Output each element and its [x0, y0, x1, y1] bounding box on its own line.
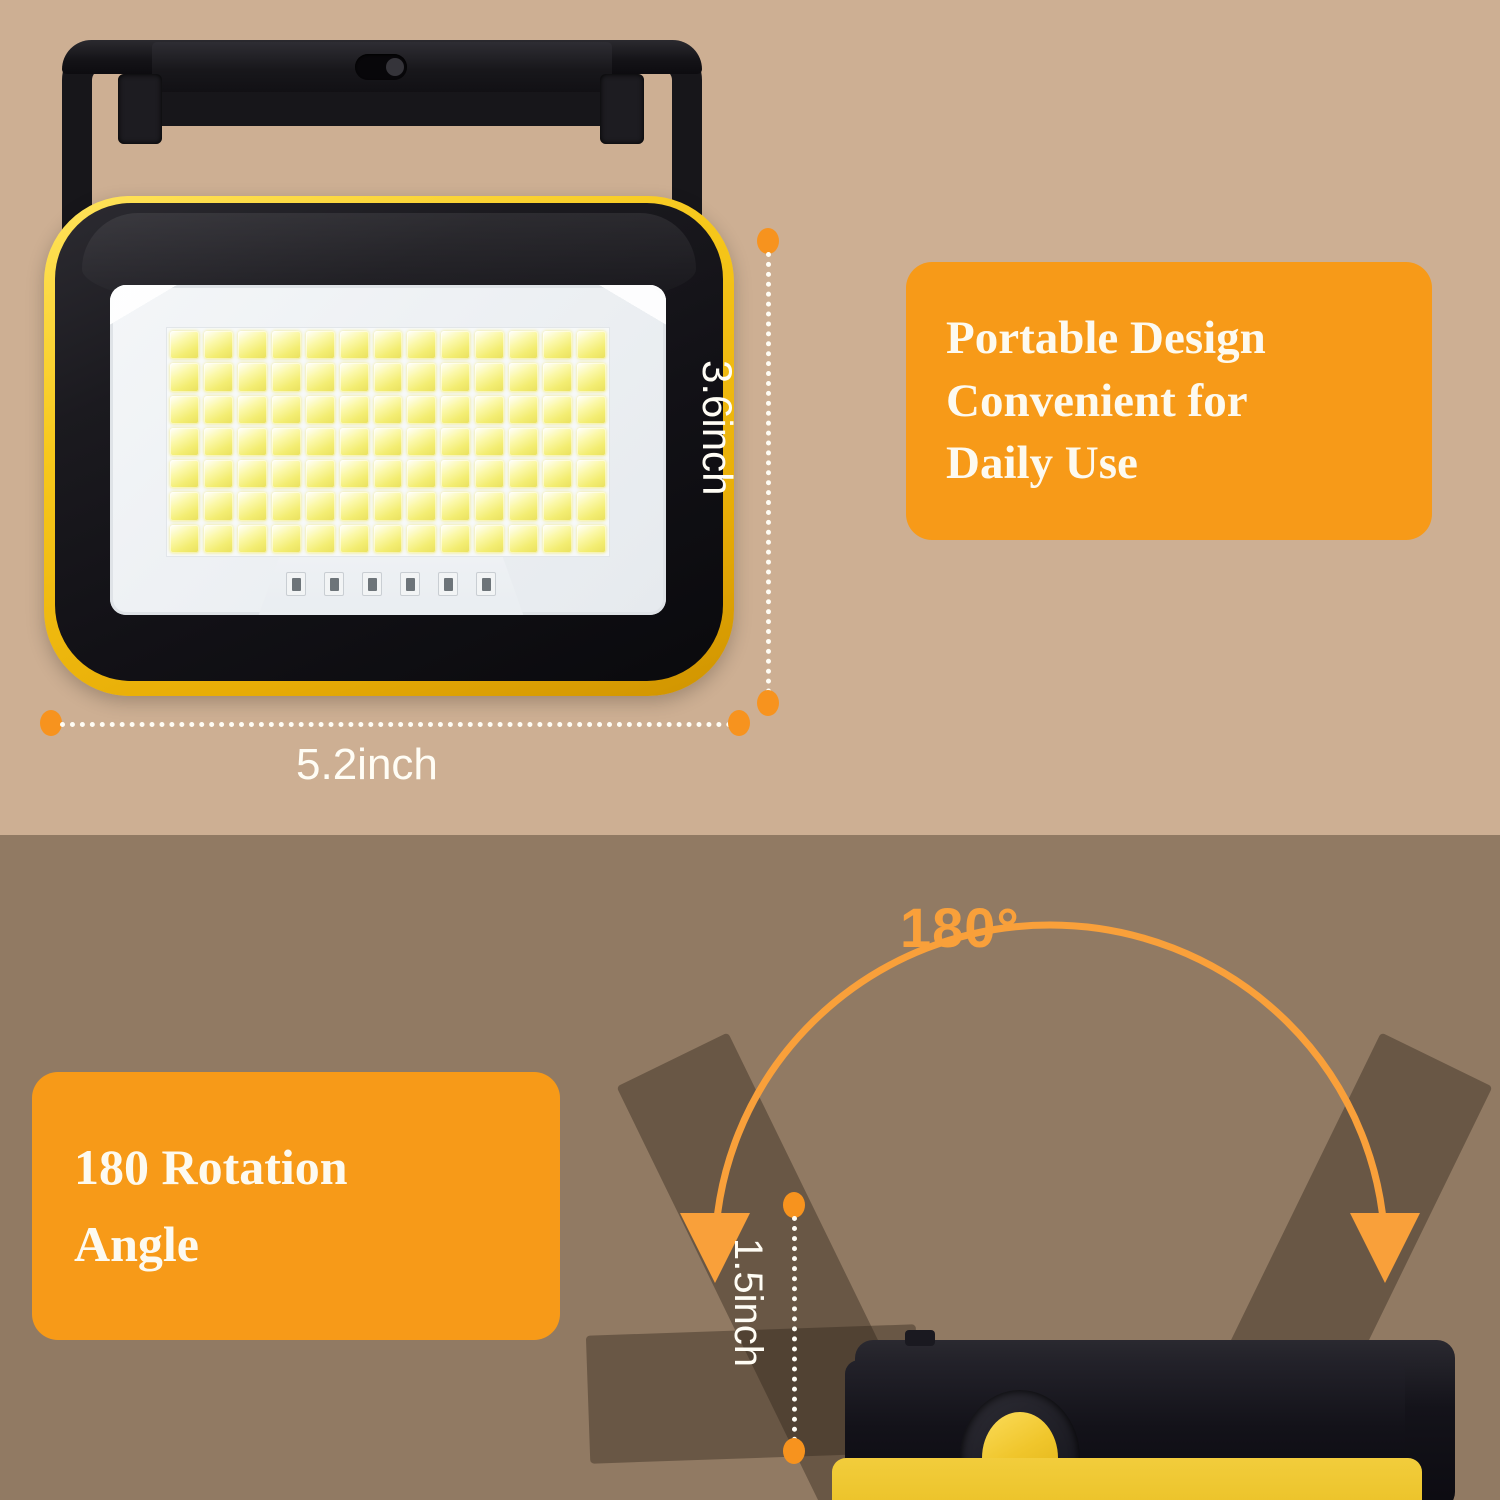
led-chip: [306, 331, 335, 359]
led-chip: [238, 492, 267, 520]
dimension-line-height: [766, 252, 771, 694]
led-chip: [340, 492, 369, 520]
lamp-yellow-base: [832, 1458, 1422, 1500]
led-chip: [238, 331, 267, 359]
led-chip: [475, 492, 504, 520]
lamp-side-top-tab: [905, 1330, 935, 1346]
led-chip: [306, 396, 335, 424]
led-chip: [272, 396, 301, 424]
dimension-line-thickness: [792, 1216, 797, 1442]
led-chip: [340, 460, 369, 488]
led-chip: [407, 396, 436, 424]
led-chip: [340, 363, 369, 391]
led-chip: [170, 428, 199, 456]
led-chip: [543, 492, 572, 520]
led-chip: [475, 396, 504, 424]
led-chip: [509, 525, 538, 553]
led-chip: [306, 363, 335, 391]
led-chip: [441, 525, 470, 553]
led-chip: [374, 331, 403, 359]
led-chip: [407, 363, 436, 391]
led-chip: [543, 363, 572, 391]
handle-keyhole-slot: [355, 54, 407, 80]
led-chip: [509, 331, 538, 359]
led-chip: [374, 363, 403, 391]
led-chip: [577, 363, 606, 391]
led-chip: [509, 460, 538, 488]
led-chip: [340, 396, 369, 424]
led-chip: [577, 525, 606, 553]
led-chip: [509, 428, 538, 456]
badge-rotation-angle: 180 Rotation Angle: [32, 1072, 560, 1340]
led-chip: [238, 396, 267, 424]
led-chip: [441, 460, 470, 488]
top-panel: 3.6inch 5.2inch Portable Design Convenie…: [0, 0, 1500, 835]
led-chip: [272, 428, 301, 456]
smd-component: [286, 572, 306, 596]
led-chip: [170, 525, 199, 553]
led-chip: [441, 428, 470, 456]
led-chip: [238, 363, 267, 391]
led-chip: [407, 428, 436, 456]
led-chip: [170, 492, 199, 520]
led-chip: [340, 525, 369, 553]
led-chip: [238, 525, 267, 553]
handle-wave-detail: [146, 92, 618, 126]
led-chip: [577, 396, 606, 424]
led-chip: [441, 492, 470, 520]
dimension-label-thickness: 1.5inch: [725, 1238, 770, 1367]
led-chip: [272, 363, 301, 391]
smd-component: [362, 572, 382, 596]
dimension-label-width: 5.2inch: [296, 740, 438, 790]
badge-line-2: Angle: [74, 1206, 518, 1284]
badge-line-3: Daily Use: [946, 432, 1392, 495]
led-chip: [543, 396, 572, 424]
led-chip: [475, 460, 504, 488]
led-chip: [374, 492, 403, 520]
led-chip: [374, 396, 403, 424]
led-chip: [475, 525, 504, 553]
led-chip: [407, 460, 436, 488]
led-chip: [340, 428, 369, 456]
led-chip: [204, 492, 233, 520]
dimension-dot-height-bottom: [757, 690, 779, 716]
led-chip: [238, 428, 267, 456]
led-chip: [340, 331, 369, 359]
dimension-dot-thickness-top: [783, 1192, 805, 1218]
led-chip: [577, 460, 606, 488]
led-chip: [577, 428, 606, 456]
led-chip: [407, 331, 436, 359]
led-chip: [204, 460, 233, 488]
led-chip: [374, 428, 403, 456]
led-chip: [407, 525, 436, 553]
dimension-line-width: [60, 722, 732, 727]
handle-hinge-right: [600, 74, 644, 144]
lamp-reflector-panel: [110, 285, 666, 615]
dimension-label-height: 3.6inch: [693, 360, 741, 495]
dimension-dot-height-top: [757, 228, 779, 254]
smd-component: [476, 572, 496, 596]
led-chip: [272, 492, 301, 520]
led-chip: [577, 492, 606, 520]
led-chip: [441, 363, 470, 391]
led-chip-grid: [170, 331, 606, 553]
led-chip: [509, 492, 538, 520]
dimension-dot-width-right: [728, 710, 750, 736]
led-chip: [475, 428, 504, 456]
smd-component: [324, 572, 344, 596]
badge-line-1: 180 Rotation: [74, 1129, 518, 1207]
led-chip: [543, 525, 572, 553]
led-chip: [543, 460, 572, 488]
led-chip: [272, 525, 301, 553]
smd-component-row: [286, 571, 496, 597]
led-chip: [509, 363, 538, 391]
led-chip: [204, 525, 233, 553]
led-chip: [204, 331, 233, 359]
smd-component: [438, 572, 458, 596]
badge-portable-design: Portable Design Convenient for Daily Use: [906, 262, 1432, 540]
led-chip: [543, 331, 572, 359]
led-chip: [306, 525, 335, 553]
led-chip: [374, 525, 403, 553]
led-chip: [170, 460, 199, 488]
led-chip: [509, 396, 538, 424]
rotation-diagram: 180°: [600, 860, 1500, 1500]
led-chip: [441, 396, 470, 424]
dimension-dot-width-left: [40, 710, 62, 736]
led-chip: [407, 492, 436, 520]
smd-component: [400, 572, 420, 596]
dimension-dot-thickness-bottom: [783, 1438, 805, 1464]
led-chip: [577, 331, 606, 359]
badge-line-2: Convenient for: [946, 370, 1392, 433]
led-chip: [272, 460, 301, 488]
led-chip: [543, 428, 572, 456]
led-chip: [374, 460, 403, 488]
product-feature-image: 3.6inch 5.2inch Portable Design Convenie…: [0, 0, 1500, 1500]
led-chip: [306, 492, 335, 520]
led-chip: [204, 363, 233, 391]
led-chip: [204, 396, 233, 424]
led-chip: [306, 428, 335, 456]
led-chip: [170, 331, 199, 359]
led-chip: [170, 396, 199, 424]
led-chip: [238, 460, 267, 488]
led-chip: [170, 363, 199, 391]
handle-hinge-left: [118, 74, 162, 144]
led-chip: [475, 363, 504, 391]
badge-line-1: Portable Design: [946, 307, 1392, 370]
rotation-angle-label: 180°: [900, 895, 1020, 960]
led-chip: [475, 331, 504, 359]
led-chip: [306, 460, 335, 488]
led-work-light-front-view: [0, 0, 780, 720]
led-chip: [441, 331, 470, 359]
led-chip: [272, 331, 301, 359]
led-chip: [204, 428, 233, 456]
